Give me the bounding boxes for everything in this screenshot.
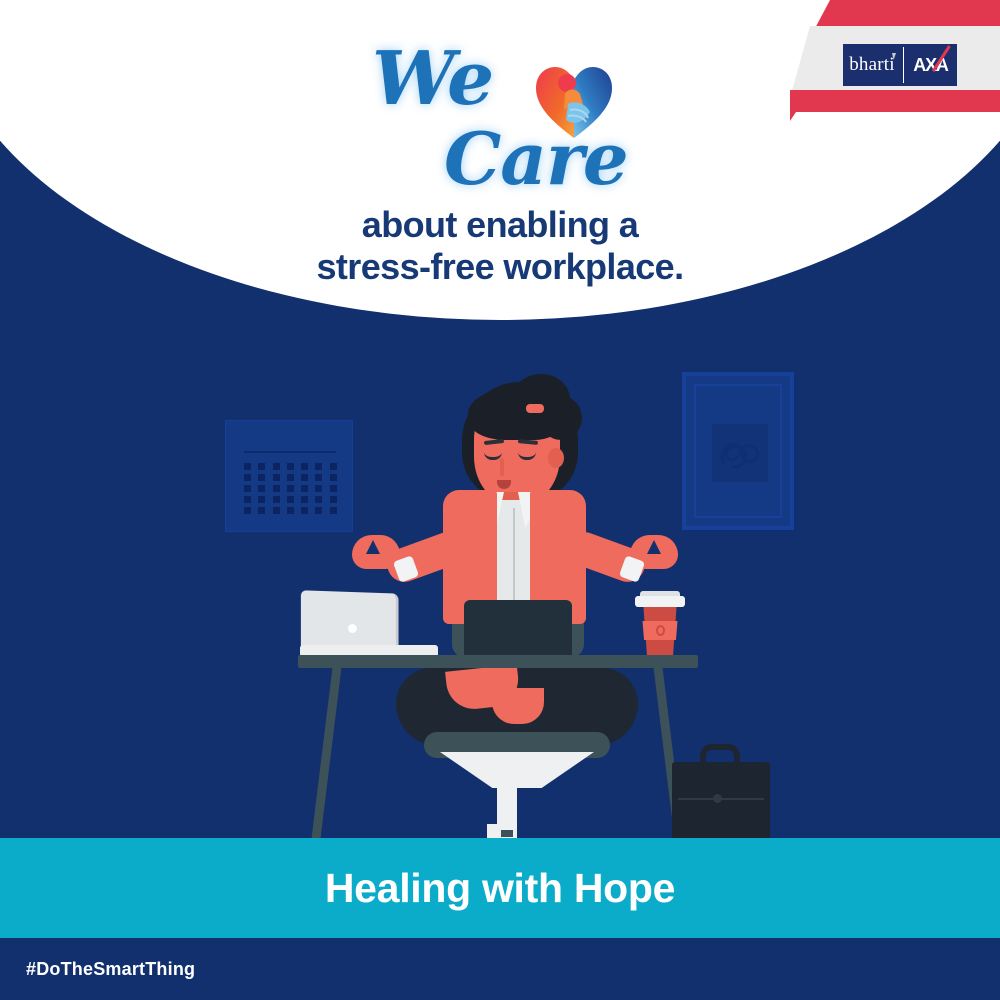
foot-right <box>492 688 544 724</box>
laptop-logo <box>348 624 357 633</box>
briefcase-lock <box>713 794 722 803</box>
bharti-axa-logo: bharti AXA <box>843 44 957 86</box>
office-chair-lever-handle <box>501 830 513 837</box>
desk-leg-left <box>311 666 341 840</box>
illustration-scene <box>0 300 1000 840</box>
headline-banner: Healing with Hope <box>0 838 1000 938</box>
office-chair-cone <box>440 752 594 788</box>
calendar-icon <box>225 420 353 532</box>
ear <box>548 448 564 468</box>
bharti-wordmark: bharti <box>843 44 903 86</box>
calendar-header-rule <box>244 451 336 453</box>
hashtag-text: #DoTheSmartThing <box>0 959 195 980</box>
nose <box>500 458 504 476</box>
headline-text: Healing with Hope <box>325 865 675 912</box>
hair-tie <box>526 404 544 413</box>
bharti-text: bharti <box>849 54 895 76</box>
hair-bun-secondary <box>540 396 582 440</box>
tagline-line-2: stress-free workplace. <box>0 246 1000 288</box>
abstract-squiggle-icon <box>712 424 768 482</box>
desk-top <box>298 655 698 668</box>
heart-hands-icon <box>534 64 614 142</box>
shirt-button-placket <box>513 508 515 608</box>
frame-artwork <box>712 424 768 482</box>
coffee-cup-lid <box>635 596 685 607</box>
framed-picture-icon <box>682 372 794 530</box>
coffee-cup-logo <box>656 625 665 636</box>
wecare-logo-we: We <box>372 36 492 122</box>
footer-bar: #DoTheSmartThing <box>0 938 1000 1000</box>
axa-wordmark: AXA <box>904 44 957 86</box>
campaign-creative: We Care <box>0 0 1000 1000</box>
tagline: about enabling a stress-free workplace. <box>0 204 1000 288</box>
tagline-line-1: about enabling a <box>0 204 1000 246</box>
calendar-day-grid <box>244 463 340 514</box>
